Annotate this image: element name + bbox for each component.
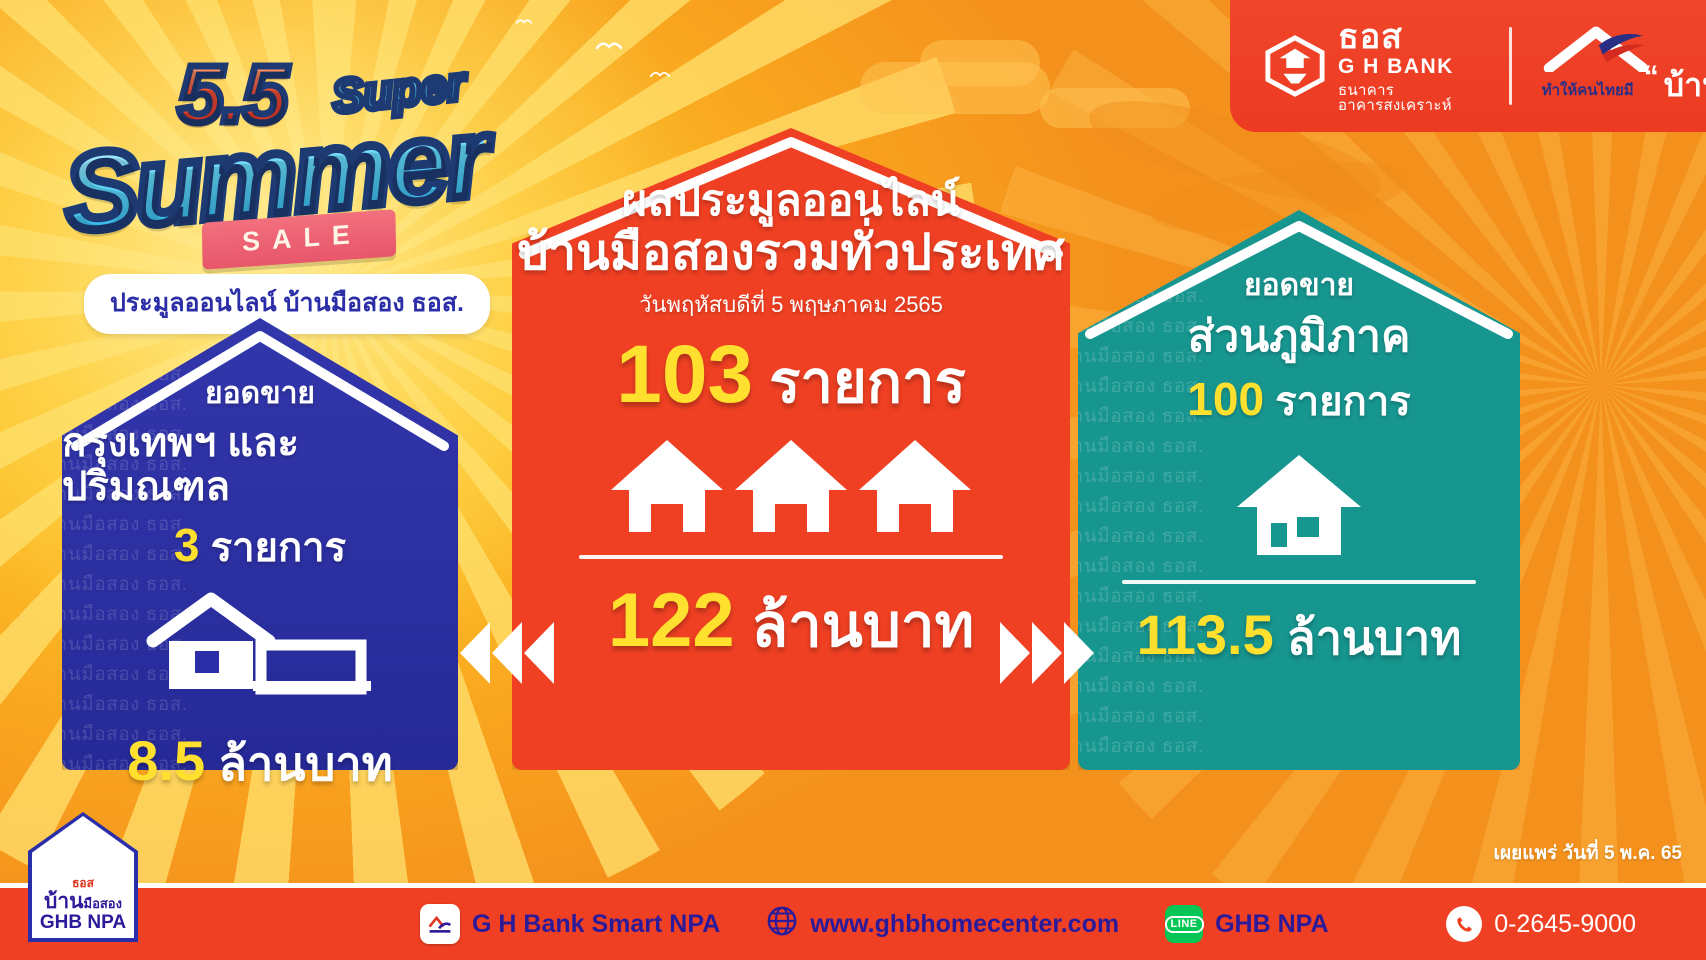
card-bangkok-label: ยอดขาย [205,370,315,417]
card-nationwide-count: 103 รายการ [616,328,966,428]
bird-decor [516,18,532,26]
card-nationwide-count-number: 103 [616,329,753,420]
card-bangkok-house-icon [145,589,375,704]
ghb-npa-baan: บ้านมือสอง [44,891,122,912]
ghb-npa-label: GHB NPA [40,912,126,934]
card-nationwide: ผลประมูลออนไลน์ บ้านมือสองรวมทั่วประเทศ … [512,128,1070,770]
card-bangkok-count-unit: รายการ [211,526,347,570]
card-bangkok-count: 3 รายการ [174,515,346,579]
card-bangkok-amount-number: 8.5 [127,729,205,792]
logo-divider [1509,27,1512,105]
ghb-slogan-block: ทำให้คนไทยมี “ บ้าน” [1536,16,1706,116]
card-nationwide-amount-unit: ล้านบาท [751,592,974,659]
card-regional-label: ยอดขาย [1244,262,1354,309]
cloud-decor [920,40,1040,86]
footer-bar: G H Bank Smart NPA www.ghbhomecenter.com… [0,883,1706,960]
arrows-right [992,620,1102,686]
card-bangkok-content: ยอดขาย กรุงเทพฯ และปริมณฑล 3 รายการ 8.5 … [62,318,458,770]
footer-phone-item[interactable]: 0-2645-9000 [1446,906,1636,942]
ghb-npa-badge: ธอส บ้านมือสอง GHB NPA [28,812,138,942]
line-app-icon: LINE [1165,905,1203,943]
footer-website-label: www.ghbhomecenter.com [810,910,1119,939]
campaign-lockup: 5.5 Super Summer SALE ประมูลออนไลน์ บ้าน… [70,24,500,314]
card-regional-count-number: 100 [1187,373,1264,425]
publish-date-note: เผยแพร่ วันที่ 5 พ.ค. 65 [1493,838,1682,868]
infographic-canvas: 5.5 Super Summer SALE ประมูลออนไลน์ บ้าน… [0,0,1706,960]
card-regional: บ้านมือสอง ธอส.บ้านมือสอง ธอส. บ้านมือสอ… [1078,210,1520,770]
card-regional-amount-number: 113.5 [1137,603,1274,666]
card-regional-content: ยอดขาย ส่วนภูมิภาค 100 รายการ 113.5 ล้าน… [1078,210,1520,770]
bank-logo-block: ธอส G H BANK ธนาคารอาคารสงเคราะห์ ทำให้ค… [1230,0,1706,132]
card-nationwide-divider [579,555,1003,559]
card-nationwide-amount-number: 122 [608,578,735,663]
footer-line-label: GHB NPA [1215,910,1328,939]
ghb-house-hexagon-icon [1264,35,1326,97]
card-regional-amount: 113.5 ล้านบาท [1137,600,1462,675]
bird-decor [596,40,622,53]
footer-line-item[interactable]: LINE GHB NPA [1165,905,1328,943]
bird-decor [650,70,670,80]
card-nationwide-content: ผลประมูลออนไลน์ บ้านมือสองรวมทั่วประเทศ … [512,128,1070,770]
card-bangkok-amount-unit: ล้านบาท [218,737,393,790]
footer-phone-number: 0-2645-9000 [1494,910,1636,939]
ghb-slogan-quote: “ [1644,60,1659,94]
card-nationwide-title-line1: ผลประมูลออนไลน์ [622,176,960,227]
card-nationwide-date: วันพฤหัสบดีที่ 5 พฤษภาคม 2565 [639,287,943,322]
ghb-english-name: G H BANK [1338,56,1485,77]
ghb-thai-name: ธอส [1338,20,1485,54]
roof-chevron-icon [1542,26,1650,77]
card-regional-count: 100 รายการ [1187,369,1410,433]
campaign-subtitle: ประมูลออนไลน์ บ้านมือสอง ธอส. [110,289,464,317]
ghb-full-thai-name: ธนาคารอาคารสงเคราะห์ [1338,83,1485,113]
card-nationwide-amount: 122 ล้านบาท [608,577,974,673]
card-regional-divider [1122,580,1476,584]
ghb-npa-badge-text: ธอส บ้านมือสอง GHB NPA [28,812,138,942]
ghb-slogan-line: ทำให้คนไทยมี [1542,78,1634,102]
arrows-left [452,620,562,686]
card-regional-region: ส่วนภูมิภาค [1188,313,1411,361]
globe-icon [766,905,798,944]
card-regional-amount-unit: ล้านบาท [1287,611,1462,664]
ghb-npa-mini-logo: ธอส [72,877,94,889]
card-regional-house-icon [1231,447,1367,568]
card-regional-count-unit: รายการ [1275,380,1411,424]
smart-npa-app-icon [420,904,460,944]
ghb-logo-words: ธอส G H BANK ธนาคารอาคารสงเคราะห์ [1338,20,1485,113]
card-nationwide-houses-icon [605,432,977,545]
campaign-sale-label: SALE [236,219,362,259]
card-bangkok-amount: 8.5 ล้านบาท [127,726,392,801]
footer-app-label: G H Bank Smart NPA [472,910,720,939]
card-nationwide-count-unit: รายการ [769,350,966,415]
ghb-logo-mark: ธอส G H BANK ธนาคารอาคารสงเคราะห์ [1264,20,1485,113]
card-bangkok-region: กรุงเทพฯ และปริมณฑล [62,421,458,509]
ghb-slogan-word: บ้าน” [1664,60,1706,111]
card-bangkok: บ้านมือสอง ธอส.บ้านมือสอง ธอส. บ้านมือสอ… [62,318,458,770]
card-nationwide-title-line2: บ้านมือสองรวมทั่วประเทศ [518,227,1065,281]
phone-icon [1446,906,1482,942]
footer-website-item[interactable]: www.ghbhomecenter.com [766,905,1119,944]
footer-app-item[interactable]: G H Bank Smart NPA [420,904,720,944]
card-bangkok-count-number: 3 [174,519,200,571]
